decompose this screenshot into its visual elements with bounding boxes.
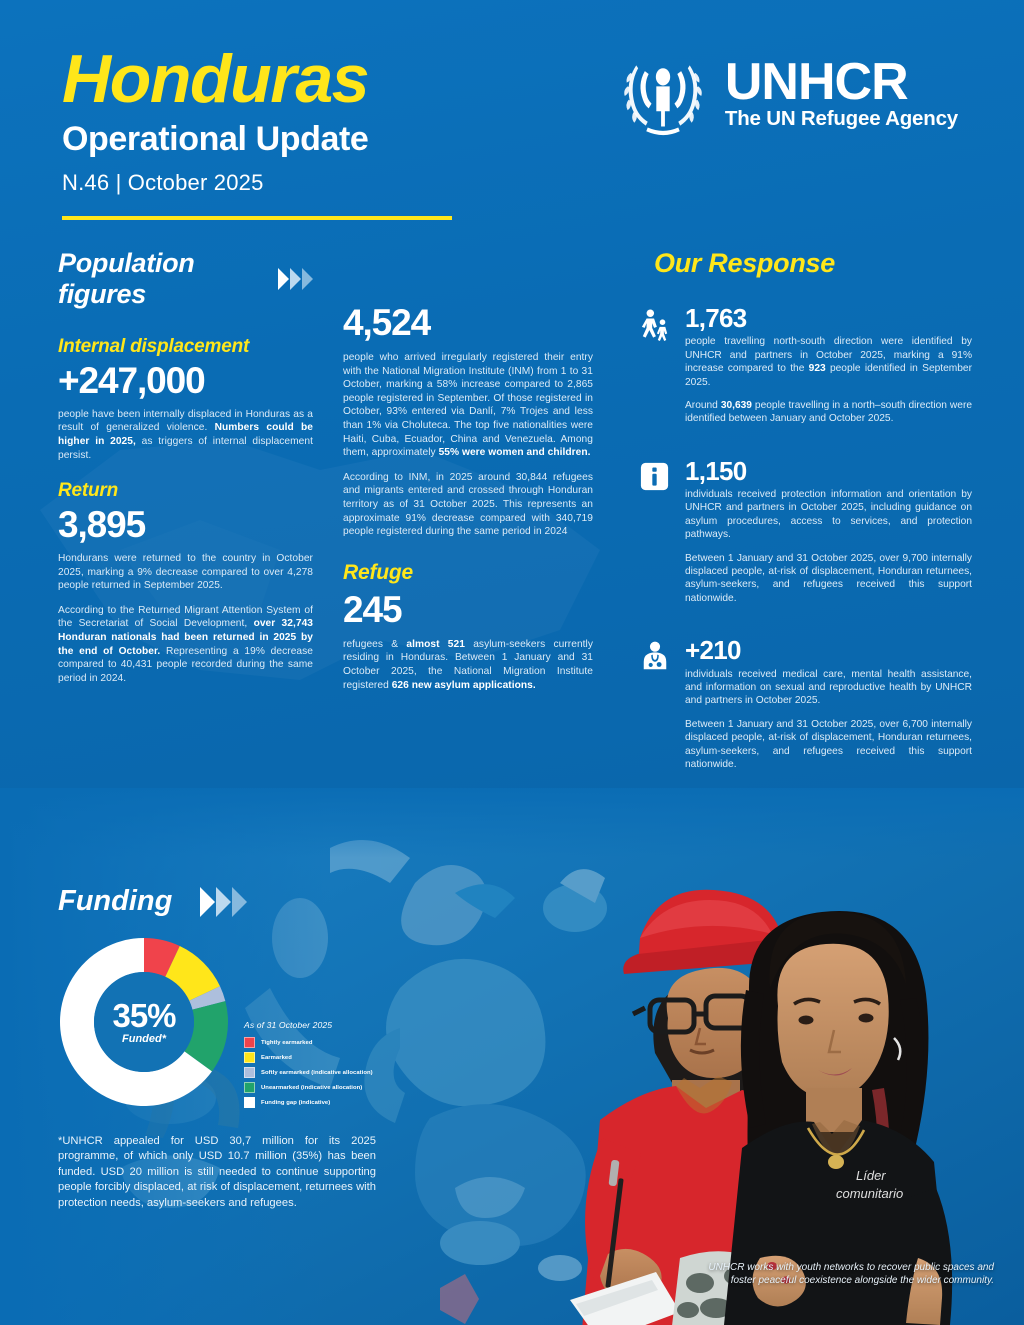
section-title-funding: Funding [58,885,478,918]
return-label: Return [58,480,313,502]
arrivals-text-1: people who arrived irregularly registere… [343,351,593,460]
population-figures-column: Population figures Internal displacement… [58,248,313,696]
legend-swatch [244,1067,255,1078]
refuge-value: 245 [343,589,593,631]
unhcr-emblem-icon [615,52,711,138]
legend-swatch [244,1037,255,1048]
response-text-1: individuals received protection informat… [685,488,972,542]
funding-legend: As of 31 October 2025 Tightly earmarkedE… [244,936,373,1112]
arrivals-value: 4,524 [343,302,593,344]
legend-item: Funding gap (indicative) [244,1097,373,1108]
refuge-text: refugees & almost 521 asylum-seekers cur… [343,638,593,692]
response-text-1: people travelling north-south direction … [685,335,972,389]
return-text-2: According to the Returned Migrant Attent… [58,604,313,686]
response-section-label: Our Response [654,248,835,279]
legend-swatch [244,1097,255,1108]
logo-tagline: The UN Refugee Agency [725,107,958,131]
donut-center-label: 35% Funded* [58,936,230,1108]
internal-displacement-block: Internal displacement +247,000 people ha… [58,336,313,462]
refuge-label: Refuge [343,561,593,585]
funded-percent: 35% [112,999,175,1032]
arrivals-column: 4,524 people who arrived irregularly reg… [343,248,593,703]
legend-label: Tightly earmarked [261,1040,313,1046]
response-value: +210 [685,637,972,664]
legend-label: Earmarked [261,1055,292,1061]
response-text-2: Between 1 January and 31 October 2025, o… [685,718,972,772]
chevron-right-icon [278,268,313,290]
issue-date: N.46 | October 2025 [62,170,264,196]
logo-name: UNHCR [725,59,958,107]
legend-label: Softly earmarked (indicative allocation) [261,1070,373,1076]
information-icon [640,458,672,616]
our-response-column: Our Response 1,763 people travelling nor… [640,248,972,803]
resp0-t2bold: 30,639 [721,400,752,411]
response-item: +210 individuals received medical care, … [640,637,972,781]
document-header: Honduras Operational Update N.46 | Octob… [0,0,1024,232]
legend-item: Softly earmarked (indicative allocation) [244,1067,373,1078]
return-text-1: Hondurans were returned to the country i… [58,552,313,593]
response-value: 1,763 [685,305,972,332]
legend-label: Funding gap (indicative) [261,1100,330,1106]
internal-displacement-value: +247,000 [58,362,313,401]
response-text-1: individuals received medical care, menta… [685,668,972,708]
legend-item: Earmarked [244,1052,373,1063]
response-item: 1,763 people travelling north-south dire… [640,305,972,436]
header-divider [62,216,452,220]
unhcr-logo: UNHCR The UN Refugee Agency [615,52,958,138]
page-title: Honduras [62,45,368,113]
svg-text:comunitario: comunitario [836,1186,903,1201]
funding-section-label: Funding [58,885,172,918]
response-text-2: Between 1 January and 31 October 2025, o… [685,552,972,606]
refuge-text-part1: refugees & [343,639,406,650]
legend-item: Tightly earmarked [244,1037,373,1048]
funded-sublabel: Funded* [122,1033,166,1045]
document-page: Honduras Operational Update N.46 | Octob… [0,0,1024,1325]
return-value: 3,895 [58,506,313,545]
section-title-response: Our Response [640,248,972,279]
legend-swatch [244,1082,255,1093]
funding-note: *UNHCR appealed for USD 30,7 million for… [58,1134,376,1211]
resp0-t2a: Around [685,400,721,411]
legend-item: Unearmarked (indicative allocation) [244,1082,373,1093]
refuge-bold-2: 626 new asylum applications. [392,680,536,691]
internal-displacement-text: people have been internally displaced in… [58,408,313,462]
refuge-bold-1: almost 521 [406,639,465,650]
section-title-population: Population figures [58,248,313,310]
population-section-label: Population figures [58,248,266,310]
refuge-block: Refuge 245 refugees & almost 521 asylum-… [343,561,593,692]
family-walking-icon [640,305,672,436]
resp0-t1bold: 923 [809,363,826,374]
response-item: 1,150 individuals received protection in… [640,458,972,616]
return-block: Return 3,895 Hondurans were returned to … [58,480,313,685]
arrivals-text1-bold: 55% were women and children. [439,447,591,458]
health-worker-icon [640,637,672,781]
photo-caption: UNHCR works with youth networks to recov… [694,1261,994,1287]
funding-donut-chart: 35% Funded* [58,936,230,1108]
internal-displacement-label: Internal displacement [58,336,313,358]
document-subtitle: Operational Update [62,122,368,156]
arrivals-text-2: According to INM, in 2025 around 30,844 … [343,471,593,539]
response-value: 1,150 [685,458,972,485]
funding-as-of-date: As of 31 October 2025 [244,1020,373,1030]
response-text-2: Around 30,639 people travelling in a nor… [685,399,972,426]
svg-text:Líder: Líder [856,1168,886,1183]
arrivals-text1-part1: people who arrived irregularly registere… [343,352,593,458]
legend-swatch [244,1052,255,1063]
legend-label: Unearmarked (indicative allocation) [261,1085,362,1091]
chevron-right-icon [200,887,247,917]
funding-section: Funding 35% Funded* As of 31 October 202… [58,885,478,1211]
